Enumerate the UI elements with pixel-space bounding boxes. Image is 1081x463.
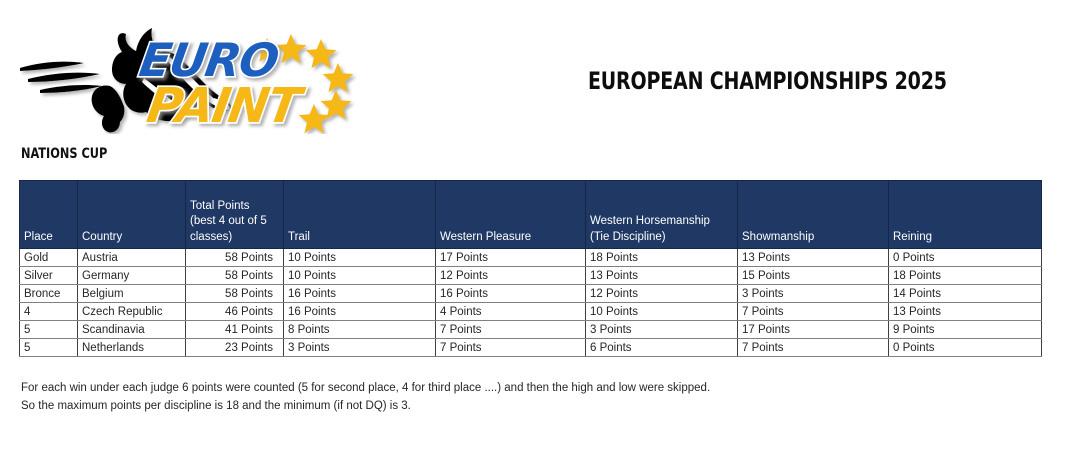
cell-place: Silver xyxy=(20,267,78,285)
cell-place: 4 xyxy=(20,303,78,321)
cell-place: 5 xyxy=(20,339,78,357)
cell-showmanship: 7 Points xyxy=(738,303,889,321)
table-body: Gold Austria 58 Points 10 Points 17 Poin… xyxy=(20,249,1042,357)
cell-showmanship: 3 Points xyxy=(738,285,889,303)
cell-country: Austria xyxy=(78,249,186,267)
cell-trail: 3 Points xyxy=(284,339,436,357)
cell-trail: 10 Points xyxy=(284,249,436,267)
cell-trail: 10 Points xyxy=(284,267,436,285)
cell-western-horsemanship: 12 Points xyxy=(586,285,738,303)
cell-total: 58 Points xyxy=(186,249,284,267)
cell-western-pleasure: 16 Points xyxy=(436,285,586,303)
nations-cup-table-wrap: Place Country Total Points (best 4 out o… xyxy=(19,180,1041,357)
cell-western-pleasure: 17 Points xyxy=(436,249,586,267)
cell-western-pleasure: 7 Points xyxy=(436,321,586,339)
euro-paint-logo-graphic: EURO PAINT xyxy=(18,22,363,134)
cell-reining: 13 Points xyxy=(889,303,1042,321)
cell-total: 41 Points xyxy=(186,321,284,339)
euro-paint-logo: EURO PAINT xyxy=(18,22,363,134)
column-header-reining: Reining xyxy=(889,181,1042,249)
cell-reining: 18 Points xyxy=(889,267,1042,285)
column-header-trail: Trail xyxy=(284,181,436,249)
column-header-western-pleasure: Western Pleasure xyxy=(436,181,586,249)
cell-total: 58 Points xyxy=(186,285,284,303)
cell-country: Belgium xyxy=(78,285,186,303)
section-heading-nations-cup: NATIONS CUP xyxy=(21,146,107,162)
cell-western-pleasure: 12 Points xyxy=(436,267,586,285)
cell-place: Bronce xyxy=(20,285,78,303)
column-header-showmanship: Showmanship xyxy=(738,181,889,249)
table-row: 5 Scandinavia 41 Points 8 Points 7 Point… xyxy=(20,321,1042,339)
page-title: EUROPEAN CHAMPIONSHIPS 2025 xyxy=(588,67,947,95)
cell-trail: 16 Points xyxy=(284,285,436,303)
table-row: Gold Austria 58 Points 10 Points 17 Poin… xyxy=(20,249,1042,267)
cell-showmanship: 7 Points xyxy=(738,339,889,357)
scoring-explanation: For each win under each judge 6 points w… xyxy=(21,379,710,415)
cell-showmanship: 17 Points xyxy=(738,321,889,339)
cell-western-pleasure: 4 Points xyxy=(436,303,586,321)
speed-lines-icon xyxy=(20,62,102,93)
cell-western-horsemanship: 3 Points xyxy=(586,321,738,339)
cell-western-horsemanship: 13 Points xyxy=(586,267,738,285)
cell-place: 5 xyxy=(20,321,78,339)
footnote-line-2: So the maximum points per discipline is … xyxy=(21,397,710,415)
cell-country: Netherlands xyxy=(78,339,186,357)
cell-reining: 9 Points xyxy=(889,321,1042,339)
cell-country: Scandinavia xyxy=(78,321,186,339)
cell-total: 58 Points xyxy=(186,267,284,285)
column-header-total-points: Total Points (best 4 out of 5 classes) xyxy=(186,181,284,249)
cell-total: 23 Points xyxy=(186,339,284,357)
cell-country: Czech Republic xyxy=(78,303,186,321)
cell-trail: 8 Points xyxy=(284,321,436,339)
cell-western-horsemanship: 18 Points xyxy=(586,249,738,267)
table-row: 4 Czech Republic 46 Points 16 Points 4 P… xyxy=(20,303,1042,321)
table-row: Bronce Belgium 58 Points 16 Points 16 Po… xyxy=(20,285,1042,303)
column-header-place: Place xyxy=(20,181,78,249)
cell-western-horsemanship: 6 Points xyxy=(586,339,738,357)
nations-cup-table: Place Country Total Points (best 4 out o… xyxy=(19,180,1042,357)
table-header-row: Place Country Total Points (best 4 out o… xyxy=(20,181,1042,249)
cell-showmanship: 15 Points xyxy=(738,267,889,285)
footnote-line-1: For each win under each judge 6 points w… xyxy=(21,379,710,397)
cell-trail: 16 Points xyxy=(284,303,436,321)
cell-reining: 14 Points xyxy=(889,285,1042,303)
cell-western-horsemanship: 10 Points xyxy=(586,303,738,321)
cell-reining: 0 Points xyxy=(889,339,1042,357)
cell-country: Germany xyxy=(78,267,186,285)
table-row: Silver Germany 58 Points 10 Points 12 Po… xyxy=(20,267,1042,285)
logo-word-paint: PAINT xyxy=(143,78,309,134)
cell-showmanship: 13 Points xyxy=(738,249,889,267)
cell-western-pleasure: 7 Points xyxy=(436,339,586,357)
column-header-western-horsemanship: Western Horsemanship (Tie Discipline) xyxy=(586,181,738,249)
table-row: 5 Netherlands 23 Points 3 Points 7 Point… xyxy=(20,339,1042,357)
cell-reining: 0 Points xyxy=(889,249,1042,267)
column-header-country: Country xyxy=(78,181,186,249)
cell-place: Gold xyxy=(20,249,78,267)
cell-total: 46 Points xyxy=(186,303,284,321)
svg-text:PAINT: PAINT xyxy=(143,78,309,134)
